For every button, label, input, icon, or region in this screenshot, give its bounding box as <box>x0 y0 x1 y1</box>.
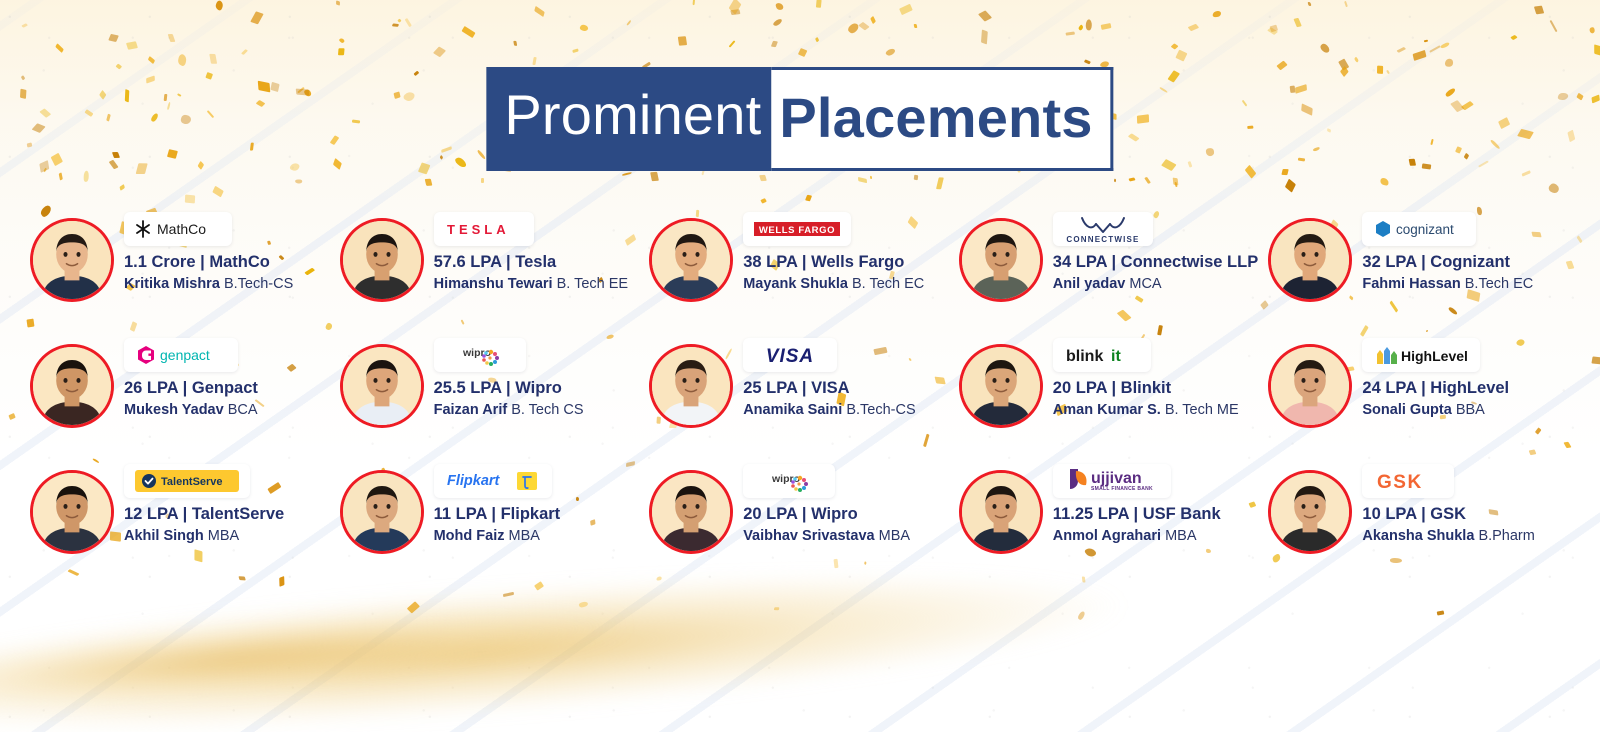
svg-text:genpact: genpact <box>160 347 210 363</box>
placement-card: blinkit20 LPA | BlinkitAman Kumar S. B. … <box>959 338 1269 428</box>
placement-card: genpact26 LPA | GenpactMukesh Yadav BCA <box>30 338 340 428</box>
package-label: 1.1 Crore | MathCo <box>124 252 293 273</box>
placement-card-body: TalentServe12 LPA | TalentServeAkhil Sin… <box>124 464 284 545</box>
placement-card-body: wipro 25.5 LPA | WiproFaizan Arif B. Tec… <box>434 338 584 419</box>
placement-card: VISA25 LPA | VISAAnamika Saini B.Tech-CS <box>649 338 959 428</box>
student-info: Anil yadav MCA <box>1053 275 1258 294</box>
placement-card-body: WELLS FARGO38 LPA | Wells FargoMayank Sh… <box>743 212 924 293</box>
avatar <box>30 218 114 302</box>
placement-card-body: CONNECTWISE34 LPA | Connectwise LLPAnil … <box>1053 212 1258 293</box>
avatar <box>649 470 733 554</box>
package-label: 25.5 LPA | Wipro <box>434 378 584 399</box>
placement-card-body: wipro 20 LPA | WiproVaibhav Srivastava M… <box>743 464 910 545</box>
placement-card: wipro 20 LPA | WiproVaibhav Srivastava M… <box>649 464 959 554</box>
student-degree: B.Pharm <box>1478 528 1534 544</box>
page-title: Prominent Placements <box>486 67 1113 171</box>
student-info: Mukesh Yadav BCA <box>124 401 258 420</box>
svg-text:cognizant: cognizant <box>1396 222 1454 237</box>
gsk-logo: GSK <box>1362 464 1454 498</box>
student-info: Vaibhav Srivastava MBA <box>743 527 910 546</box>
highlevel-logo: HighLevel <box>1362 338 1480 372</box>
student-info: Mohd Faiz MBA <box>434 527 561 546</box>
placement-card: MathCo1.1 Crore | MathCoKritika Mishra B… <box>30 212 340 302</box>
student-degree: B. Tech EC <box>852 276 924 292</box>
svg-text:it: it <box>1111 348 1121 365</box>
package-label: 38 LPA | Wells Fargo <box>743 252 924 273</box>
student-info: Akhil Singh MBA <box>124 527 284 546</box>
wipro-logo: wipro <box>743 464 835 498</box>
svg-text:HighLevel: HighLevel <box>1401 348 1468 364</box>
svg-text:VISA: VISA <box>766 346 814 367</box>
placements-poster: Prominent Placements MathCo1.1 Crore | M… <box>0 0 1600 732</box>
svg-text:WELLS FARGO: WELLS FARGO <box>759 225 835 236</box>
svg-text:blink: blink <box>1066 348 1103 365</box>
svg-text:TESLA: TESLA <box>447 222 510 237</box>
student-degree: MBA <box>208 528 239 544</box>
student-degree: B. Tech CS <box>511 402 583 418</box>
student-info: Sonali Gupta BBA <box>1362 401 1509 420</box>
student-info: Himanshu Tewari B. Tech EE <box>434 275 628 294</box>
svg-text:MathCo: MathCo <box>157 221 206 237</box>
package-label: 24 LPA | HighLevel <box>1362 378 1509 399</box>
student-info: Aman Kumar S. B. Tech ME <box>1053 401 1239 420</box>
student-degree: B.Tech-CS <box>224 276 293 292</box>
wells-fargo-logo: WELLS FARGO <box>743 212 851 246</box>
avatar <box>340 470 424 554</box>
placement-card: wipro 25.5 LPA | WiproFaizan Arif B. Tec… <box>340 338 650 428</box>
student-name: Vaibhav Srivastava <box>743 528 874 544</box>
placement-card-body: GSK10 LPA | GSKAkansha Shukla B.Pharm <box>1362 464 1534 545</box>
student-name: Mayank Shukla <box>743 276 848 292</box>
student-name: Kritika Mishra <box>124 276 220 292</box>
student-degree: MBA <box>1165 528 1196 544</box>
student-degree: B. Tech ME <box>1165 402 1239 418</box>
cognizant-logo: cognizant <box>1362 212 1476 246</box>
package-label: 12 LPA | TalentServe <box>124 504 284 525</box>
placement-card-body: MathCo1.1 Crore | MathCoKritika Mishra B… <box>124 212 293 293</box>
student-info: Anamika Saini B.Tech-CS <box>743 401 915 420</box>
avatar <box>340 218 424 302</box>
package-label: 11 LPA | Flipkart <box>434 504 561 525</box>
avatar <box>1268 218 1352 302</box>
student-info: Faizan Arif B. Tech CS <box>434 401 584 420</box>
placement-card-body: TESLA57.6 LPA | TeslaHimanshu Tewari B. … <box>434 212 628 293</box>
package-label: 26 LPA | Genpact <box>124 378 258 399</box>
package-label: 11.25 LPA | USF Bank <box>1053 504 1221 525</box>
blinkit-logo: blinkit <box>1053 338 1151 372</box>
placement-card-body: cognizant32 LPA | CognizantFahmi Hassan … <box>1362 212 1533 293</box>
placement-card: WELLS FARGO38 LPA | Wells FargoMayank Sh… <box>649 212 959 302</box>
student-name: Anamika Saini <box>743 402 842 418</box>
avatar <box>649 344 733 428</box>
flipkart-logo: Flipkart <box>434 464 552 498</box>
placement-card: TESLA57.6 LPA | TeslaHimanshu Tewari B. … <box>340 212 650 302</box>
student-name: Mukesh Yadav <box>124 402 224 418</box>
placement-card: GSK10 LPA | GSKAkansha Shukla B.Pharm <box>1268 464 1578 554</box>
student-name: Sonali Gupta <box>1362 402 1451 418</box>
tesla-logo: TESLA <box>434 212 534 246</box>
student-degree: MBA <box>509 528 540 544</box>
student-info: Kritika Mishra B.Tech-CS <box>124 275 293 294</box>
placement-card: cognizant32 LPA | CognizantFahmi Hassan … <box>1268 212 1578 302</box>
student-degree: MCA <box>1129 276 1161 292</box>
avatar <box>1268 344 1352 428</box>
student-degree: MBA <box>879 528 910 544</box>
student-info: Akansha Shukla B.Pharm <box>1362 527 1534 546</box>
avatar <box>959 218 1043 302</box>
title-placements: Placements <box>771 67 1113 171</box>
package-label: 34 LPA | Connectwise LLP <box>1053 252 1258 273</box>
svg-text:ujjivan: ujjivan <box>1091 470 1142 487</box>
connectwise-logo: CONNECTWISE <box>1053 212 1153 246</box>
student-degree: B.Tech-CS <box>846 402 915 418</box>
placement-card-body: genpact26 LPA | GenpactMukesh Yadav BCA <box>124 338 258 419</box>
svg-text:TalentServe: TalentServe <box>161 476 223 488</box>
svg-text:GSK: GSK <box>1377 472 1423 492</box>
student-degree: B. Tech EE <box>557 276 628 292</box>
package-label: 20 LPA | Wipro <box>743 504 910 525</box>
placement-card-body: ujjivanSMALL FINANCE BANK11.25 LPA | USF… <box>1053 464 1221 545</box>
avatar <box>959 470 1043 554</box>
svg-text:SMALL FINANCE BANK: SMALL FINANCE BANK <box>1091 486 1153 492</box>
genpact-logo: genpact <box>124 338 238 372</box>
svg-text:CONNECTWISE: CONNECTWISE <box>1066 235 1139 244</box>
student-name: Mohd Faiz <box>434 528 505 544</box>
student-info: Anmol Agrahari MBA <box>1053 527 1221 546</box>
placement-card: ujjivanSMALL FINANCE BANK11.25 LPA | USF… <box>959 464 1269 554</box>
title-prominent: Prominent <box>486 67 771 171</box>
placement-card-body: HighLevel24 LPA | HighLevelSonali Gupta … <box>1362 338 1509 419</box>
avatar <box>649 218 733 302</box>
placements-grid: MathCo1.1 Crore | MathCoKritika Mishra B… <box>30 212 1578 554</box>
package-label: 20 LPA | Blinkit <box>1053 378 1239 399</box>
student-name: Aman Kumar S. <box>1053 402 1161 418</box>
talentserve-logo: TalentServe <box>124 464 250 498</box>
avatar <box>340 344 424 428</box>
placement-card-body: VISA25 LPA | VISAAnamika Saini B.Tech-CS <box>743 338 915 419</box>
student-name: Akansha Shukla <box>1362 528 1474 544</box>
wipro-logo: wipro <box>434 338 526 372</box>
placement-card: Flipkart11 LPA | FlipkartMohd Faiz MBA <box>340 464 650 554</box>
package-label: 32 LPA | Cognizant <box>1362 252 1533 273</box>
placement-card-body: Flipkart11 LPA | FlipkartMohd Faiz MBA <box>434 464 561 545</box>
placement-card-body: blinkit20 LPA | BlinkitAman Kumar S. B. … <box>1053 338 1239 419</box>
student-degree: B.Tech EC <box>1465 276 1534 292</box>
student-name: Faizan Arif <box>434 402 508 418</box>
student-degree: BCA <box>228 402 258 418</box>
student-degree: BBA <box>1456 402 1485 418</box>
visa-logo: VISA <box>743 338 837 372</box>
ujjivan-logo: ujjivanSMALL FINANCE BANK <box>1053 464 1171 498</box>
avatar <box>959 344 1043 428</box>
avatar <box>30 470 114 554</box>
avatar <box>1268 470 1352 554</box>
student-name: Fahmi Hassan <box>1362 276 1460 292</box>
package-label: 25 LPA | VISA <box>743 378 915 399</box>
avatar <box>30 344 114 428</box>
placement-card: HighLevel24 LPA | HighLevelSonali Gupta … <box>1268 338 1578 428</box>
student-info: Mayank Shukla B. Tech EC <box>743 275 924 294</box>
student-name: Anmol Agrahari <box>1053 528 1161 544</box>
package-label: 57.6 LPA | Tesla <box>434 252 628 273</box>
placement-card: TalentServe12 LPA | TalentServeAkhil Sin… <box>30 464 340 554</box>
student-info: Fahmi Hassan B.Tech EC <box>1362 275 1533 294</box>
placement-card: CONNECTWISE34 LPA | Connectwise LLPAnil … <box>959 212 1269 302</box>
student-name: Akhil Singh <box>124 528 204 544</box>
mathco-logo: MathCo <box>124 212 232 246</box>
student-name: Anil yadav <box>1053 276 1126 292</box>
student-name: Himanshu Tewari <box>434 276 553 292</box>
svg-text:Flipkart: Flipkart <box>447 473 501 489</box>
package-label: 10 LPA | GSK <box>1362 504 1534 525</box>
